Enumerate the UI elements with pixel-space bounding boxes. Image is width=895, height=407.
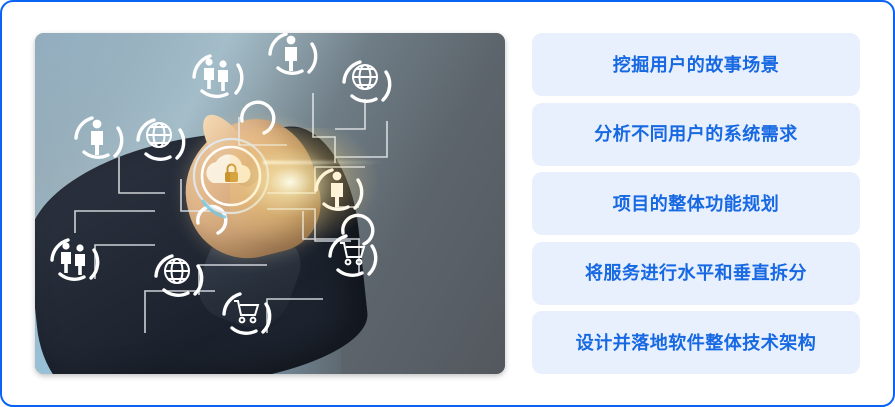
feature-card-label: 分析不同用户的系统需求 xyxy=(594,125,798,143)
glow-ray xyxy=(263,161,383,164)
icon-network xyxy=(35,33,505,374)
feature-card-label: 设计并落地软件整体技术架构 xyxy=(576,334,817,352)
hero-photo xyxy=(35,33,505,374)
feature-card-3[interactable]: 项目的整体功能规划 xyxy=(532,172,860,235)
page-frame: 挖掘用户的故事场景 分析不同用户的系统需求 项目的整体功能规划 将服务进行水平和… xyxy=(0,0,895,407)
feature-card-5[interactable]: 设计并落地软件整体技术架构 xyxy=(532,311,860,374)
feature-card-label: 将服务进行水平和垂直拆分 xyxy=(585,264,807,282)
feature-card-label: 项目的整体功能规划 xyxy=(613,195,780,213)
feature-card-1[interactable]: 挖掘用户的故事场景 xyxy=(532,33,860,96)
feature-card-4[interactable]: 将服务进行水平和垂直拆分 xyxy=(532,242,860,305)
feature-card-label: 挖掘用户的故事场景 xyxy=(613,56,780,74)
feature-card-list: 挖掘用户的故事场景 分析不同用户的系统需求 项目的整体功能规划 将服务进行水平和… xyxy=(532,33,860,374)
feature-card-2[interactable]: 分析不同用户的系统需求 xyxy=(532,103,860,166)
